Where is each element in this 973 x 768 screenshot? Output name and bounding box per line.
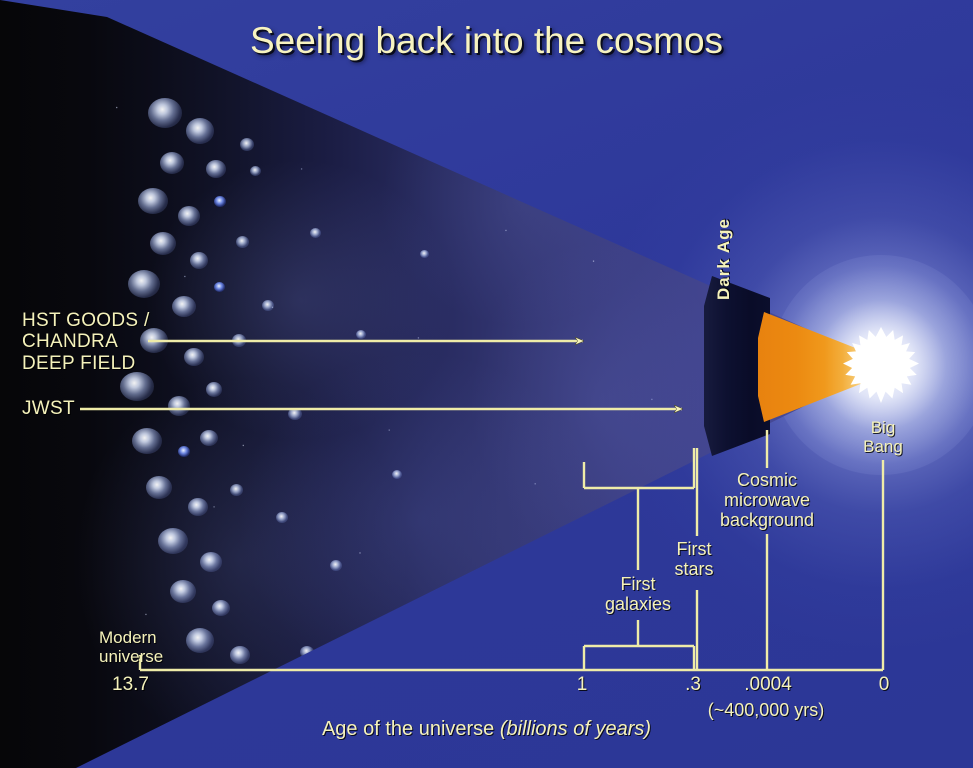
cosmic-microwave-background-label: Cosmic microwave background [700, 470, 834, 530]
first-galaxies-label: First galaxies [588, 574, 688, 614]
axis-tick-label-1: 1 [562, 674, 602, 696]
hst-goods-chandra-deep-field-label: HST GOODS / CHANDRA DEEP FIELD [22, 310, 150, 374]
modern-universe-label: Modern universe [99, 628, 163, 666]
page-title: Seeing back into the cosmos [0, 20, 973, 61]
axis-caption: Age of the universe (billions of years) [0, 718, 973, 740]
axis-caption-units: (billions of years) [500, 718, 651, 740]
axis-tick-label-0: 0 [864, 674, 904, 696]
axis-tick-label-point-3: .3 [673, 674, 713, 696]
big-bang-label: Big Bang [852, 418, 914, 456]
axis-caption-main: Age of the universe [322, 718, 500, 740]
axis-tick-label-13-7: 13.7 [112, 674, 149, 695]
cosmology-diagram: Dark Age [0, 0, 973, 768]
axis-tick-label-point-0004: .0004 [735, 674, 801, 696]
jwst-label: JWST [22, 398, 75, 419]
